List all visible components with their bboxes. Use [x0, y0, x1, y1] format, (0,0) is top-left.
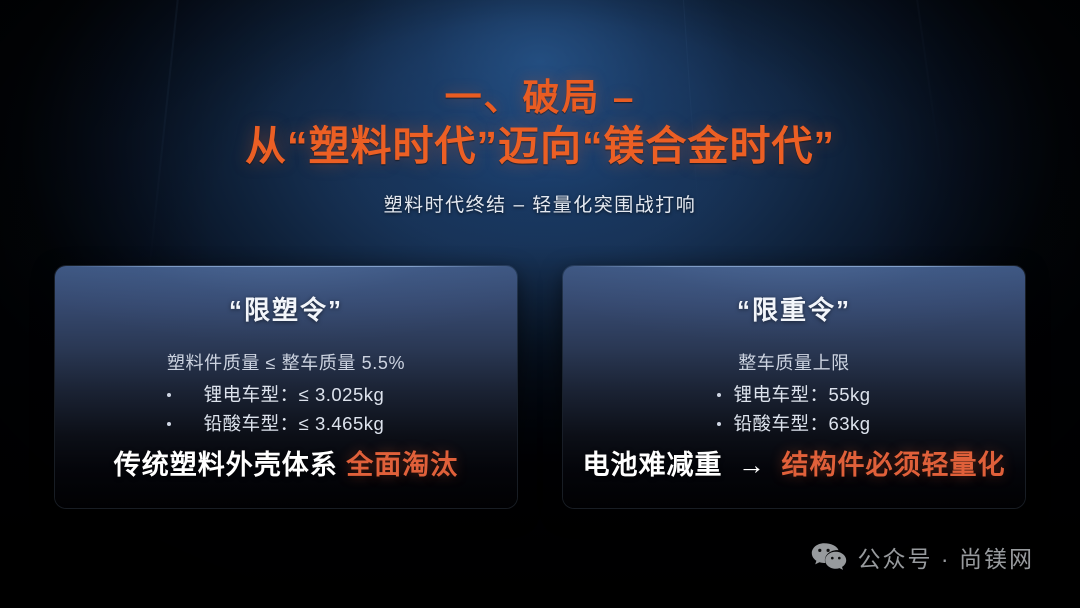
card-body: 整车质量上限 锂电车型：55kg 铅酸车型：63kg [717, 349, 870, 438]
page-title-line-1: 一、破局 – [0, 78, 1080, 118]
right-arrow-icon: → [731, 450, 773, 480]
list-item-label: 铅酸车型：≤ 3.465kg [204, 413, 385, 434]
list-item: 铅酸车型：63kg [717, 409, 870, 438]
bullet-dot-icon [717, 422, 721, 426]
bullet-dot-icon [167, 422, 171, 426]
watermark: 公众号 · 尚镁网 [811, 540, 1034, 574]
list-item: 铅酸车型：≤ 3.465kg [167, 409, 405, 438]
list-item: 锂电车型：55kg [717, 380, 870, 409]
wechat-icon [811, 542, 847, 572]
page-subtitle: 塑料时代终结 – 轻量化突围战打响 [0, 190, 1080, 217]
bullet-dot-icon [167, 393, 171, 397]
card-lead-text: 塑料件质量 ≤ 整车质量 5.5% [167, 349, 405, 375]
card-conclusion: 电池难减重 → 结构件必须轻量化 [563, 443, 1025, 482]
card-conclusion-accent: 全面淘汰 [346, 450, 458, 480]
card-conclusion-plain: 电池难减重 [582, 450, 722, 480]
card-title: “限重令” [737, 290, 851, 327]
card-body: 塑料件质量 ≤ 整车质量 5.5% 锂电车型：≤ 3.025kg 铅酸车型：≤ … [167, 349, 405, 438]
policy-card-weight-limit[interactable]: “限重令” 整车质量上限 锂电车型：55kg 铅酸车型：63kg [563, 266, 1025, 508]
list-item-label: 锂电车型：≤ 3.025kg [204, 384, 385, 405]
list-item-label: 锂电车型：55kg [733, 384, 870, 405]
card-bullet-list: 锂电车型：≤ 3.025kg 铅酸车型：≤ 3.465kg [167, 380, 405, 438]
heading-block: 一、破局 – 从“塑料时代”迈向“镁合金时代” 塑料时代终结 – 轻量化突围战打… [0, 78, 1080, 217]
card-lead-text: 整车质量上限 [717, 349, 870, 375]
card-title: “限塑令” [229, 290, 343, 327]
watermark-label: 公众号 · 尚镁网 [858, 540, 1034, 574]
list-item: 锂电车型：≤ 3.025kg [167, 380, 405, 409]
policy-card-plastic-limit[interactable]: “限塑令” 塑料件质量 ≤ 整车质量 5.5% 锂电车型：≤ 3.025kg 铅… [55, 266, 517, 508]
card-conclusion-plain: 传统塑料外壳体系 [114, 450, 338, 480]
list-item-label: 铅酸车型：63kg [733, 413, 870, 434]
page-title-line-2: 从“塑料时代”迈向“镁合金时代” [0, 124, 1080, 170]
card-row: “限塑令” 塑料件质量 ≤ 整车质量 5.5% 锂电车型：≤ 3.025kg 铅… [55, 266, 1025, 508]
card-bullet-list: 锂电车型：55kg 铅酸车型：63kg [717, 380, 870, 438]
card-conclusion: 传统塑料外壳体系 全面淘汰 [55, 443, 517, 482]
card-conclusion-accent: 结构件必须轻量化 [782, 450, 1006, 480]
slide-canvas: 一、破局 – 从“塑料时代”迈向“镁合金时代” 塑料时代终结 – 轻量化突围战打… [0, 0, 1080, 608]
bullet-dot-icon [717, 393, 721, 397]
